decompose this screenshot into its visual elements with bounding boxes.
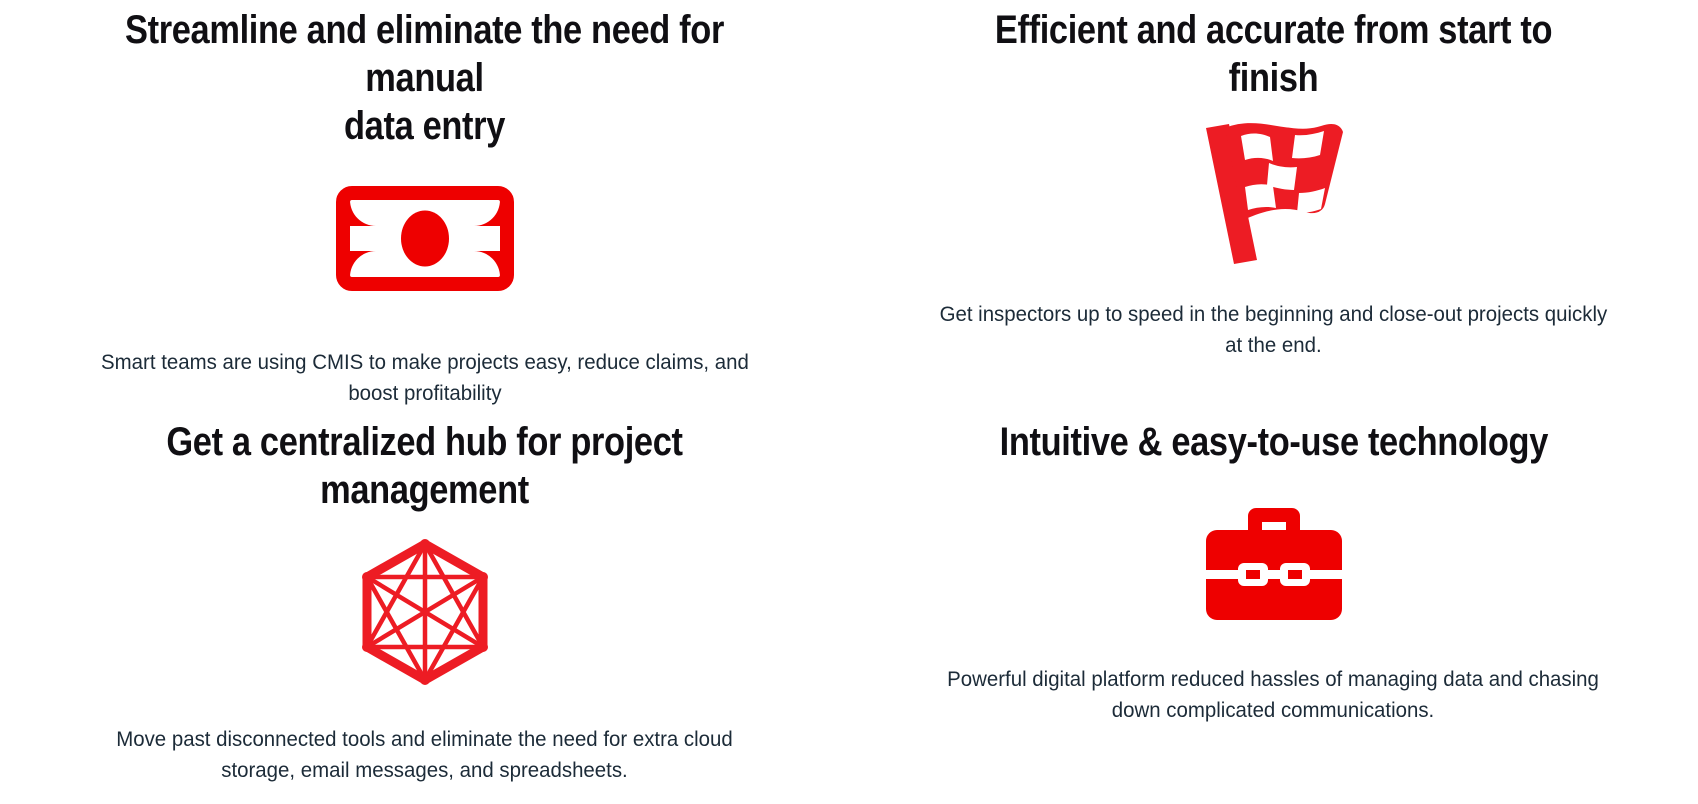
feature-card-centralized-hub: Get a centralized hub for project manage…	[0, 404, 849, 804]
card-body-text: Move past disconnected tools and elimina…	[116, 724, 733, 786]
briefcase-icon	[1204, 504, 1344, 622]
card-body-text: Powerful digital platform reduced hassle…	[948, 664, 1600, 726]
card-heading: Efficient and accurate from start to fin…	[956, 6, 1592, 102]
feature-card-manual-data-entry: Streamline and eliminate the need for ma…	[0, 0, 849, 404]
card-heading: Get a centralized hub for project manage…	[107, 418, 743, 514]
feature-grid: Streamline and eliminate the need for ma…	[0, 0, 1698, 804]
checkered-flag-icon	[1199, 120, 1349, 265]
feature-card-start-to-finish: Efficient and accurate from start to fin…	[849, 0, 1698, 404]
card-heading: Intuitive & easy-to-use technology	[999, 418, 1547, 466]
card-body-text: Get inspectors up to speed in the beginn…	[940, 299, 1608, 361]
feature-card-intuitive-technology: Intuitive & easy-to-use technology Power…	[849, 404, 1698, 804]
network-hexagon-icon	[349, 536, 501, 688]
card-heading: Streamline and eliminate the need for ma…	[107, 6, 743, 150]
money-bill-icon	[336, 186, 514, 291]
card-body-text: Smart teams are using CMIS to make proje…	[101, 347, 749, 409]
